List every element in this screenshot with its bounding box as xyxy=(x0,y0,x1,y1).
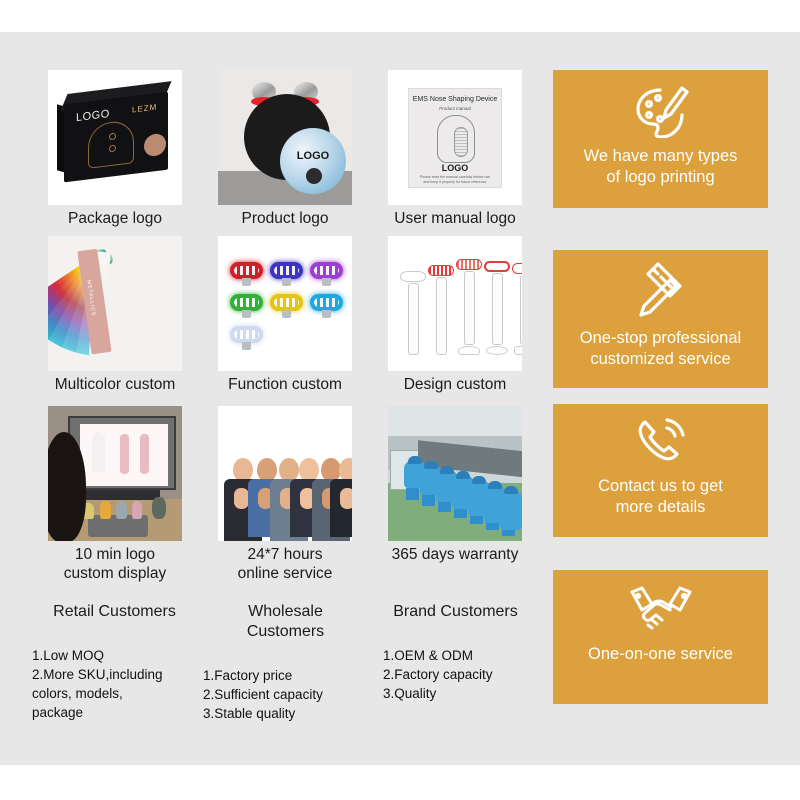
card-caption: User manual logo xyxy=(380,210,530,229)
manual-title: EMS Nose Shaping Device xyxy=(409,96,501,103)
customer-column-retail: Retail Customers 1.Low MOQ2.More SKU,inc… xyxy=(32,602,197,723)
benefit-item: 1.Low MOQ xyxy=(32,646,197,665)
benefit-item: 3.Stable quality xyxy=(203,704,368,723)
customer-heading: Wholesale Customers xyxy=(203,602,368,642)
card-caption: 365 days warranty xyxy=(380,546,530,565)
card-design-custom: Design custom xyxy=(388,236,530,395)
promo-panel-one-on-one[interactable]: One-on-one service xyxy=(553,570,768,704)
card-caption: 24*7 hours online service xyxy=(210,546,360,584)
led-head xyxy=(270,294,303,311)
led-head xyxy=(230,262,263,279)
desk-figurine xyxy=(100,501,111,519)
device-outline-5 xyxy=(512,263,522,355)
desk-vase xyxy=(152,497,166,519)
worker-cap xyxy=(456,471,470,479)
factory-ceiling xyxy=(388,406,522,440)
led-head xyxy=(270,262,303,279)
factory-worker xyxy=(500,490,522,530)
card-caption: Design custom xyxy=(380,376,530,395)
manual-device-handle xyxy=(454,127,468,157)
product-logo-text: LOGO xyxy=(280,150,346,162)
benefit-item: 1.OEM & ODM xyxy=(383,646,538,665)
card-user-manual-logo: EMS Nose Shaping Device Product manual L… xyxy=(388,70,530,229)
manual-footnote: Please read the manual carefully before … xyxy=(409,175,501,186)
benefit-item: 3.Quality xyxy=(383,684,538,703)
user-manual-image: EMS Nose Shaping Device Product manual L… xyxy=(388,70,522,205)
card-online-service: 24*7 hours online service xyxy=(218,406,360,584)
customer-column-brand: Brand Customers 1.OEM & ODM2.Factory cap… xyxy=(373,602,538,703)
card-caption: 10 min logo custom display xyxy=(40,546,190,584)
design-artboard xyxy=(80,424,168,486)
product-logo-image: LOGO xyxy=(218,70,352,205)
worker-cap xyxy=(408,456,422,464)
card-caption: Product logo xyxy=(210,210,360,229)
worker-stool xyxy=(406,488,419,500)
handshake-icon xyxy=(624,582,698,636)
benefit-item: 2.More SKU,including xyxy=(32,665,197,684)
promo-panel-text: We have many types of logo printing xyxy=(576,146,746,189)
card-warranty: 365 days warranty xyxy=(388,406,530,565)
fan-cover-label: METALLICS xyxy=(85,280,96,317)
team-thumbsup-image xyxy=(218,406,352,541)
promo-panel-logo-printing[interactable]: We have many types of logo printing xyxy=(553,70,768,208)
desk-figurine xyxy=(116,501,127,519)
promo-panel-contact-us[interactable]: Contact us to get more details xyxy=(553,404,768,537)
palette-brush-icon xyxy=(630,82,692,138)
device-outline-4 xyxy=(484,261,510,355)
device-outline-3 xyxy=(456,259,482,355)
customer-column-wholesale: Wholesale Customers 1.Factory price2.Suf… xyxy=(203,602,368,723)
led-head xyxy=(310,262,343,279)
device-outline-1 xyxy=(400,271,426,355)
factory-line-image xyxy=(388,406,522,541)
customer-heading: Retail Customers xyxy=(32,602,197,622)
product-knob xyxy=(306,168,322,184)
customer-benefit-list: 1.Factory price2.Sufficient capacity3.St… xyxy=(203,666,368,723)
multicolor-custom-image: METALLICS xyxy=(48,236,182,371)
product-marble-face: LOGO xyxy=(280,128,346,194)
product-body-ring: LOGO xyxy=(244,94,330,180)
worker-stool xyxy=(422,494,435,506)
desk-figurine xyxy=(132,501,142,519)
card-caption: Package logo xyxy=(40,210,190,229)
promo-panel-customized-service[interactable]: One-stop professional customized service xyxy=(553,250,768,388)
card-product-logo: LOGO Product logo xyxy=(218,70,360,229)
card-caption: Function custom xyxy=(210,376,360,395)
monitor-stand xyxy=(84,490,160,500)
card-multicolor-custom: METALLICS Multicolor custom xyxy=(48,236,190,395)
card-function-custom: Function custom xyxy=(218,236,360,395)
benefit-item: 1.Factory price xyxy=(203,666,368,685)
led-head xyxy=(310,294,343,311)
benefit-item: 2.Factory capacity xyxy=(383,665,538,684)
customer-benefit-list: 1.Low MOQ2.More SKU,includingcolors, mod… xyxy=(32,646,197,723)
design-custom-image xyxy=(388,236,522,371)
led-head xyxy=(230,294,263,311)
benefit-item: 2.Sufficient capacity xyxy=(203,685,368,704)
phone-call-icon xyxy=(633,416,689,468)
benefit-item: package xyxy=(32,703,197,722)
worker-cap xyxy=(472,476,486,484)
team-member xyxy=(330,458,352,537)
card-package-logo: LOGO LEZM Package logo xyxy=(48,70,190,229)
card-logo-custom-display: 10 min logo custom display xyxy=(48,406,190,584)
customer-benefit-list: 1.OEM & ODM2.Factory capacity3.Quality xyxy=(383,646,538,703)
manual-logo-text: LOGO xyxy=(409,163,501,173)
worker-cap xyxy=(488,481,502,489)
promo-panel-text: One-on-one service xyxy=(580,644,741,665)
function-custom-image xyxy=(218,236,352,371)
promo-page: LOGO LEZM Package logo LOGO Pro xyxy=(0,32,800,765)
designer-monitor-image xyxy=(48,406,182,541)
led-head xyxy=(230,326,263,343)
card-caption: Multicolor custom xyxy=(40,376,190,395)
customer-heading: Brand Customers xyxy=(373,602,538,622)
device-outline-2 xyxy=(428,265,454,355)
pencil-ruler-icon xyxy=(632,262,690,318)
worker-cap xyxy=(424,461,438,469)
package-logo-image: LOGO LEZM xyxy=(48,70,182,205)
led-head-group xyxy=(218,236,352,371)
manual-sheet: EMS Nose Shaping Device Product manual L… xyxy=(408,88,502,188)
promo-panel-text: One-stop professional customized service xyxy=(572,328,749,371)
worker-cap xyxy=(440,466,454,474)
manual-subtitle: Product manual xyxy=(409,106,501,111)
promo-panel-text: Contact us to get more details xyxy=(590,476,731,519)
benefit-item: colors, models, xyxy=(32,684,197,703)
worker-cap xyxy=(504,486,518,494)
